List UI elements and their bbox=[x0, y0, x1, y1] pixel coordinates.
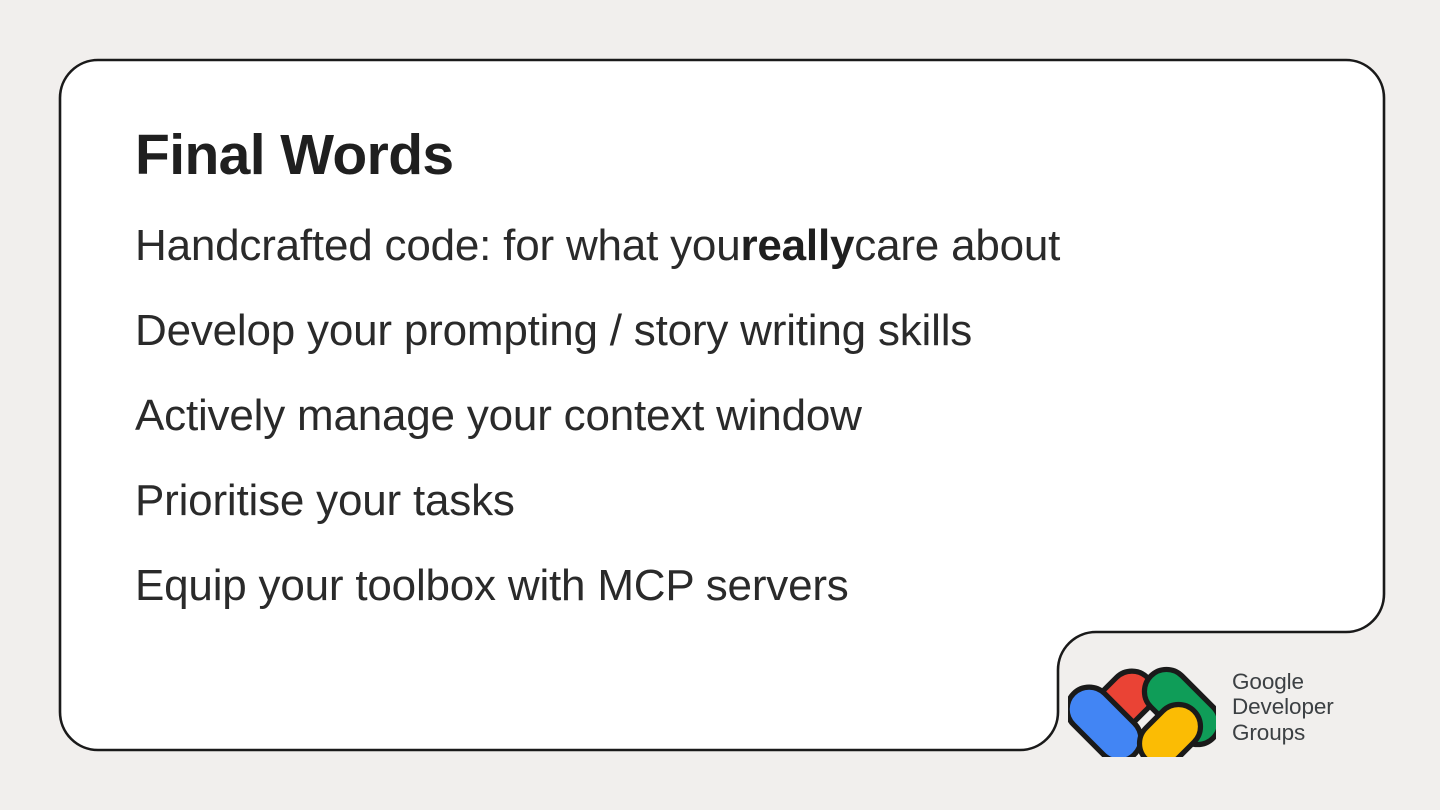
bullet-text-pre: Develop your prompting / story writing s… bbox=[135, 309, 972, 353]
list-item-prompting: Develop your prompting / story writing s… bbox=[135, 309, 1060, 394]
bullet-text-pre: Actively manage your context window bbox=[135, 394, 862, 438]
list-item-prioritise: Prioritise your tasks bbox=[135, 479, 1060, 564]
bullet-text-post: care about bbox=[854, 224, 1060, 268]
gdg-logo: Google Developer Groups bbox=[1068, 657, 1334, 757]
gdg-chevrons-icon bbox=[1068, 657, 1216, 757]
bullet-list: Handcrafted code: for what you really ca… bbox=[135, 224, 1060, 649]
bullet-text-emphasis: really bbox=[740, 224, 854, 268]
gdg-wordmark-line-developer: Developer bbox=[1232, 694, 1334, 720]
list-item-mcp: Equip your toolbox with MCP servers bbox=[135, 564, 1060, 649]
list-item-handcrafted: Handcrafted code: for what you really ca… bbox=[135, 224, 1060, 309]
gdg-wordmark-line-google: Google bbox=[1232, 669, 1334, 695]
bullet-text-pre: Equip your toolbox with MCP servers bbox=[135, 564, 849, 608]
bullet-text-pre: Prioritise your tasks bbox=[135, 479, 515, 523]
gdg-wordmark: Google Developer Groups bbox=[1232, 669, 1334, 746]
list-item-context-window: Actively manage your context window bbox=[135, 394, 1060, 479]
page-title: Final Words bbox=[135, 123, 454, 189]
bullet-text-pre: Handcrafted code: for what you bbox=[135, 224, 740, 268]
slide-canvas: Final Words Handcrafted code: for what y… bbox=[0, 0, 1440, 810]
gdg-wordmark-line-groups: Groups bbox=[1232, 720, 1334, 746]
